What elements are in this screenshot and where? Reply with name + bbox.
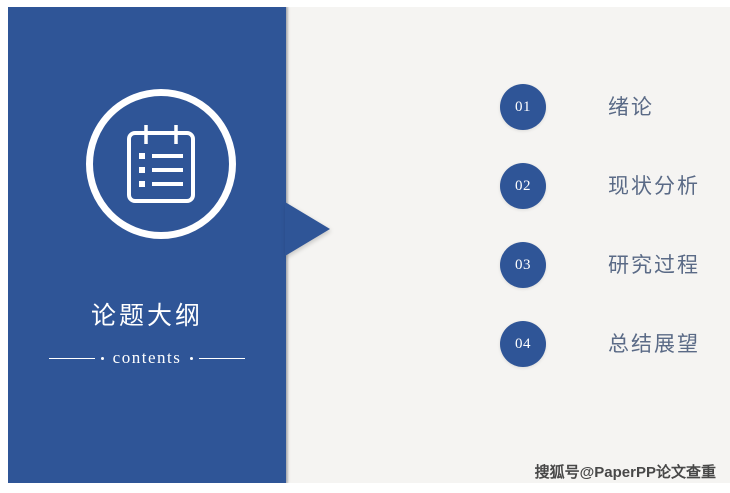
agenda-item-label: 研究过程 bbox=[608, 249, 700, 279]
agenda-number-badge: 04 bbox=[500, 321, 546, 367]
agenda-number: 03 bbox=[515, 257, 531, 274]
left-title-panel: 论题大纲 contents bbox=[8, 7, 286, 483]
frame-bottom-margin bbox=[0, 483, 730, 493]
presentation-slide: 论题大纲 contents 01 绪论 02 现状分析 03 bbox=[0, 0, 730, 493]
list-item[interactable]: 02 现状分析 bbox=[500, 163, 710, 242]
panel-pointer-arrow bbox=[285, 202, 330, 256]
agenda-number: 01 bbox=[515, 99, 531, 116]
panel-title: 论题大纲 bbox=[8, 296, 286, 332]
frame-top-margin bbox=[0, 0, 730, 7]
agenda-item-label: 总结展望 bbox=[608, 328, 700, 358]
agenda-number: 04 bbox=[515, 336, 531, 353]
list-item[interactable]: 04 总结展望 bbox=[500, 321, 710, 400]
contents-divider: contents bbox=[8, 348, 286, 368]
divider-line-right bbox=[199, 358, 245, 359]
agenda-number-badge: 01 bbox=[500, 84, 546, 130]
agenda-item-label: 绪论 bbox=[608, 91, 654, 121]
divider-line-left bbox=[49, 358, 95, 359]
divider-dot-left bbox=[101, 357, 104, 360]
agenda-number: 02 bbox=[515, 178, 531, 195]
agenda-number-badge: 02 bbox=[500, 163, 546, 209]
agenda-number-badge: 03 bbox=[500, 242, 546, 288]
frame-left-margin bbox=[0, 0, 8, 493]
agenda-list: 01 绪论 02 现状分析 03 研究过程 04 总结展望 bbox=[500, 84, 710, 400]
list-item[interactable]: 03 研究过程 bbox=[500, 242, 710, 321]
list-item[interactable]: 01 绪论 bbox=[500, 84, 710, 163]
clipboard-list-icon bbox=[86, 89, 236, 239]
divider-dot-right bbox=[190, 357, 193, 360]
panel-subtitle: contents bbox=[110, 348, 185, 368]
watermark: 搜狐号@PaperPP论文查重 bbox=[535, 461, 716, 482]
agenda-item-label: 现状分析 bbox=[608, 170, 700, 200]
